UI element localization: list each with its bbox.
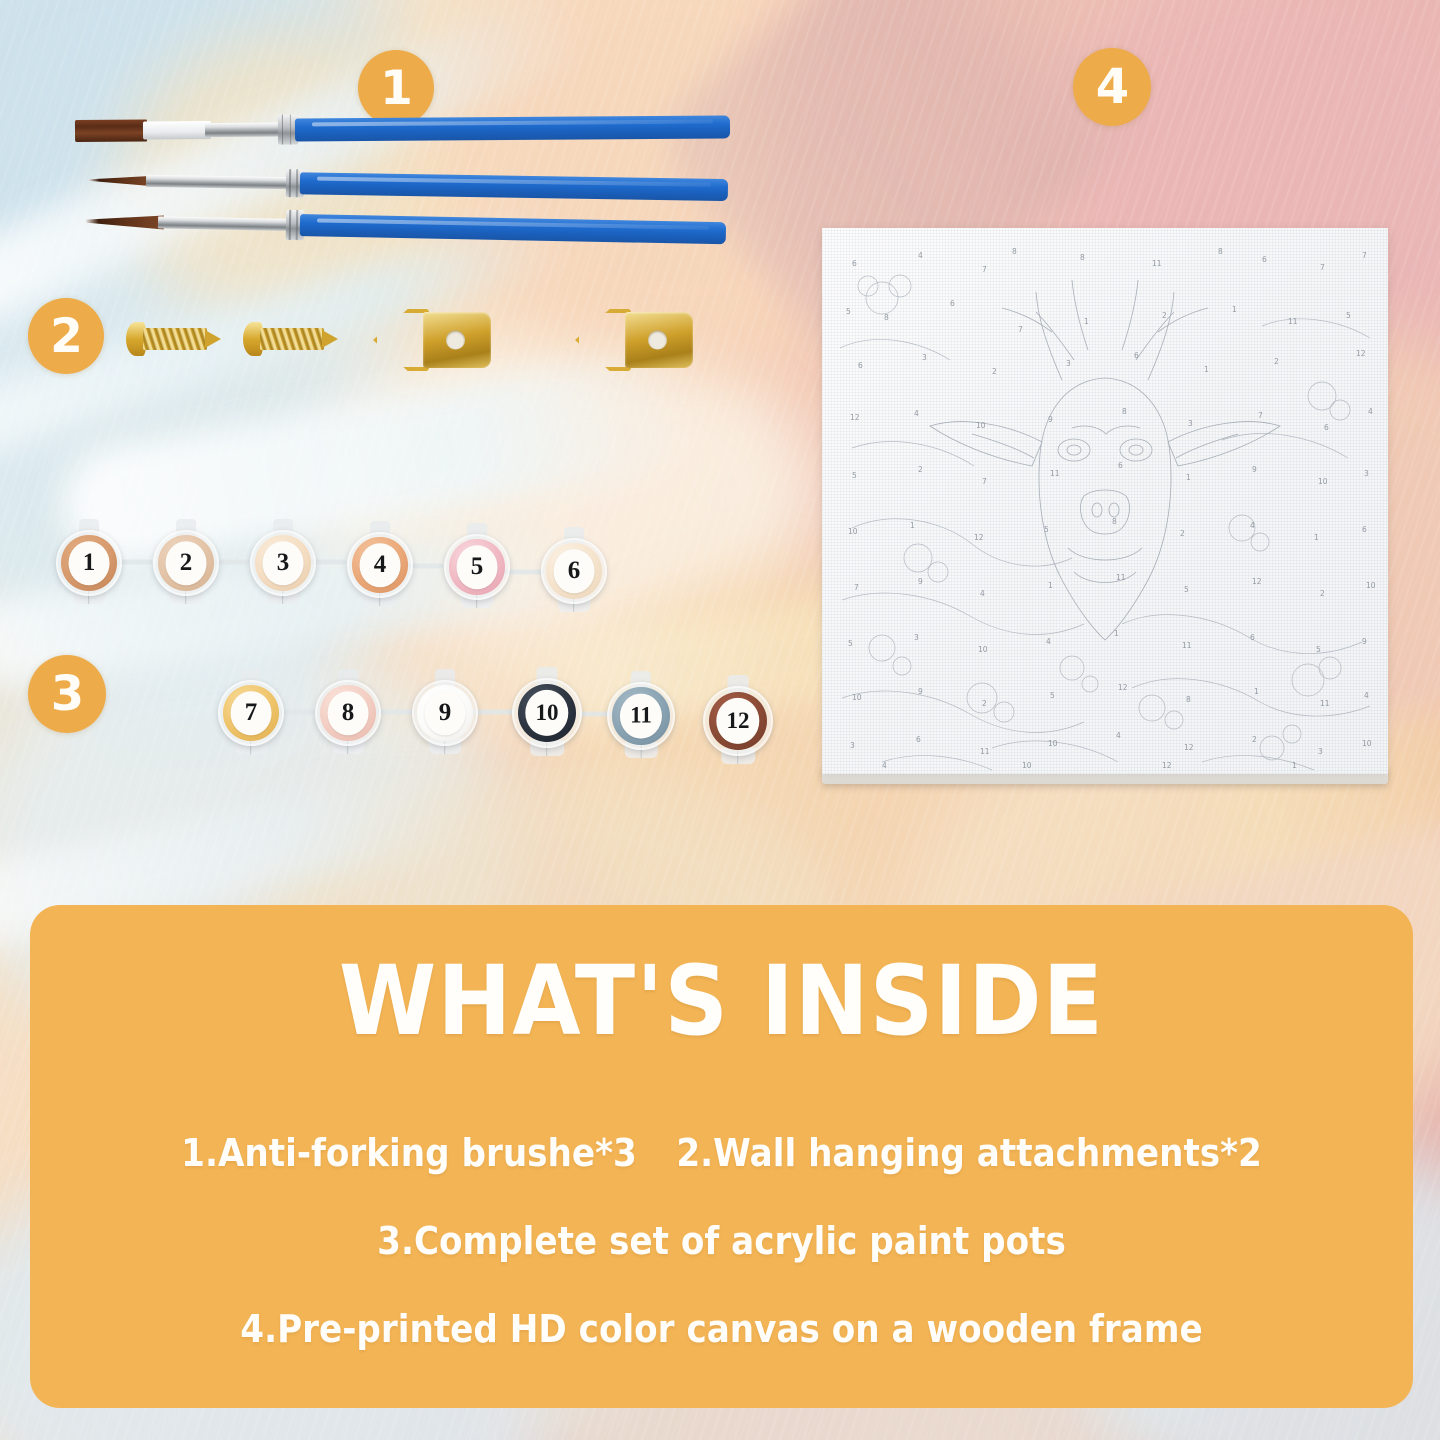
paint-pot-1: 1 bbox=[56, 530, 122, 596]
svg-text:4: 4 bbox=[1368, 407, 1373, 416]
svg-text:1: 1 bbox=[1254, 687, 1259, 696]
svg-text:2: 2 bbox=[992, 367, 997, 376]
svg-text:2: 2 bbox=[1274, 357, 1279, 366]
hanger-triangle bbox=[373, 309, 429, 371]
svg-text:4: 4 bbox=[1250, 521, 1255, 530]
svg-text:12: 12 bbox=[1184, 743, 1194, 752]
svg-text:6: 6 bbox=[858, 361, 863, 370]
svg-text:10: 10 bbox=[848, 527, 858, 536]
hanger-screw-hole bbox=[648, 331, 667, 350]
step-badge-4: 4 bbox=[1073, 48, 1151, 126]
pot-body: 2 bbox=[153, 530, 219, 596]
paint-pot-6: 6 bbox=[541, 538, 607, 604]
svg-text:7: 7 bbox=[982, 477, 987, 486]
step-badge-3: 3 bbox=[28, 655, 106, 733]
svg-text:5: 5 bbox=[848, 639, 853, 648]
paint-pot-12: 12 bbox=[703, 686, 773, 756]
contents-item-3: 3.Complete set of acrylic paint pots bbox=[377, 1219, 1066, 1263]
svg-text:6: 6 bbox=[1250, 633, 1255, 642]
svg-text:4: 4 bbox=[882, 761, 887, 770]
hanger-screw-hole bbox=[446, 331, 465, 350]
page-title: WHAT'S INSIDE bbox=[85, 953, 1357, 1049]
svg-text:8: 8 bbox=[1218, 247, 1223, 256]
svg-text:6: 6 bbox=[1118, 461, 1123, 470]
svg-text:5: 5 bbox=[1346, 311, 1351, 320]
pot-body: 10 bbox=[512, 678, 582, 748]
svg-text:7: 7 bbox=[854, 583, 859, 592]
svg-text:2: 2 bbox=[1162, 311, 1167, 320]
svg-text:1: 1 bbox=[1186, 473, 1191, 482]
contents-line-1: 1.Anti-forking brushe*3 2.Wall hanging a… bbox=[99, 1131, 1344, 1175]
pot-body: 8 bbox=[315, 680, 381, 746]
svg-text:9: 9 bbox=[918, 687, 923, 696]
paint-pot-2: 2 bbox=[153, 530, 219, 596]
svg-text:8: 8 bbox=[1080, 253, 1085, 262]
pot-body: 12 bbox=[703, 686, 773, 756]
paint-pot-9: 9 bbox=[412, 680, 478, 746]
svg-text:7: 7 bbox=[982, 265, 987, 274]
flat-brush-tip bbox=[75, 119, 147, 142]
svg-text:10: 10 bbox=[1366, 581, 1376, 590]
paint-pot-5: 5 bbox=[444, 534, 510, 600]
svg-text:11: 11 bbox=[1152, 259, 1162, 268]
svg-text:6: 6 bbox=[950, 299, 955, 308]
svg-text:4: 4 bbox=[1364, 691, 1369, 700]
paint-pot-3: 3 bbox=[250, 530, 316, 596]
round-brush-ferrule bbox=[158, 216, 296, 231]
step-badge-2: 2 bbox=[28, 298, 104, 374]
canvas-outline-artwork: 647 8811 867 758 671 2111 563 236 1212 1… bbox=[822, 228, 1388, 774]
svg-text:6: 6 bbox=[1362, 525, 1367, 534]
svg-text:12: 12 bbox=[1162, 761, 1172, 770]
svg-text:10: 10 bbox=[1318, 477, 1328, 486]
svg-text:4: 4 bbox=[1046, 637, 1051, 646]
svg-text:11: 11 bbox=[1320, 699, 1330, 708]
paint-pot-11: 11 bbox=[607, 682, 675, 750]
flat-brush bbox=[75, 113, 730, 144]
d-ring-hanger-2 bbox=[575, 300, 693, 380]
infographic-stage: 1 2 3 4 bbox=[0, 0, 1440, 1440]
svg-text:7: 7 bbox=[1362, 251, 1367, 260]
svg-text:11: 11 bbox=[1050, 469, 1060, 478]
round-brush-tip bbox=[86, 214, 164, 229]
svg-text:7: 7 bbox=[1018, 325, 1023, 334]
svg-text:1: 1 bbox=[1232, 305, 1237, 314]
pot-number-label: 1 bbox=[69, 541, 110, 585]
pot-number-label: 11 bbox=[620, 694, 662, 739]
pot-number-label: 5 bbox=[457, 545, 498, 589]
svg-text:2: 2 bbox=[1180, 529, 1185, 538]
svg-text:5: 5 bbox=[1050, 691, 1055, 700]
canvas-printed-face: 647 8811 867 758 671 2111 563 236 1212 1… bbox=[822, 228, 1388, 774]
contents-item-1: 1.Anti-forking brushe*3 bbox=[181, 1131, 637, 1175]
contents-line-2: 3.Complete set of acrylic paint pots bbox=[99, 1219, 1344, 1263]
pot-body: 3 bbox=[250, 530, 316, 596]
svg-text:3: 3 bbox=[1188, 419, 1193, 428]
step-badge-1-label: 1 bbox=[380, 61, 412, 116]
svg-text:1: 1 bbox=[1204, 365, 1209, 374]
pot-body: 5 bbox=[444, 534, 510, 600]
svg-text:6: 6 bbox=[916, 735, 921, 744]
svg-text:12: 12 bbox=[1118, 683, 1128, 692]
svg-text:10: 10 bbox=[852, 693, 862, 702]
svg-text:9: 9 bbox=[1252, 465, 1257, 474]
svg-text:2: 2 bbox=[1320, 589, 1325, 598]
gold-screw-1 bbox=[126, 312, 224, 366]
svg-text:7: 7 bbox=[1258, 411, 1263, 420]
svg-text:6: 6 bbox=[852, 259, 857, 268]
svg-text:1: 1 bbox=[1114, 629, 1119, 638]
svg-text:6: 6 bbox=[1324, 423, 1329, 432]
svg-text:3: 3 bbox=[1066, 359, 1071, 368]
svg-text:8: 8 bbox=[1112, 517, 1117, 526]
svg-text:9: 9 bbox=[918, 577, 923, 586]
pot-number-label: 3 bbox=[263, 541, 304, 585]
svg-text:4: 4 bbox=[1116, 731, 1121, 740]
svg-text:10: 10 bbox=[1362, 739, 1372, 748]
pot-number-label: 2 bbox=[166, 541, 207, 585]
fine-liner-brush-tip bbox=[88, 175, 150, 186]
svg-text:1: 1 bbox=[910, 521, 915, 530]
screw-shaft bbox=[260, 328, 324, 350]
pot-body: 9 bbox=[412, 680, 478, 746]
svg-text:3: 3 bbox=[922, 353, 927, 362]
svg-text:3: 3 bbox=[850, 741, 855, 750]
contents-item-2: 2.Wall hanging attachments*2 bbox=[676, 1131, 1261, 1175]
svg-text:5: 5 bbox=[852, 471, 857, 480]
svg-text:1: 1 bbox=[1048, 581, 1053, 590]
screw-shaft bbox=[143, 328, 207, 350]
paint-pot-8: 8 bbox=[315, 680, 381, 746]
paint-pot-4: 4 bbox=[347, 532, 413, 598]
paint-pot-10: 10 bbox=[512, 678, 582, 748]
pot-body: 4 bbox=[347, 532, 413, 598]
svg-text:2: 2 bbox=[918, 465, 923, 474]
svg-text:12: 12 bbox=[974, 533, 984, 542]
svg-text:5: 5 bbox=[846, 307, 851, 316]
svg-text:1: 1 bbox=[1084, 317, 1089, 326]
svg-text:10: 10 bbox=[1048, 739, 1058, 748]
flat-brush-ferrule bbox=[205, 123, 285, 138]
pot-body: 1 bbox=[56, 530, 122, 596]
svg-text:10: 10 bbox=[976, 421, 986, 430]
svg-text:8: 8 bbox=[1186, 695, 1191, 704]
svg-text:11: 11 bbox=[1182, 641, 1192, 650]
svg-text:3: 3 bbox=[1364, 469, 1369, 478]
svg-text:11: 11 bbox=[1116, 573, 1126, 582]
pot-number-label: 7 bbox=[231, 691, 272, 735]
svg-text:9: 9 bbox=[1362, 637, 1367, 646]
svg-text:2: 2 bbox=[1252, 735, 1257, 744]
svg-text:4: 4 bbox=[914, 409, 919, 418]
pot-number-label: 8 bbox=[328, 691, 369, 735]
step-badge-2-label: 2 bbox=[50, 309, 82, 364]
svg-text:12: 12 bbox=[850, 413, 860, 422]
svg-text:5: 5 bbox=[1044, 525, 1049, 534]
svg-text:2: 2 bbox=[982, 699, 987, 708]
hanger-triangle bbox=[575, 309, 631, 371]
svg-text:7: 7 bbox=[1320, 263, 1325, 272]
svg-text:11: 11 bbox=[980, 747, 990, 756]
svg-text:5: 5 bbox=[1316, 645, 1321, 654]
d-ring-hanger-1 bbox=[373, 300, 491, 380]
svg-text:1: 1 bbox=[1314, 533, 1319, 542]
screw-tip bbox=[322, 330, 338, 348]
svg-text:6: 6 bbox=[1134, 351, 1139, 360]
svg-text:3: 3 bbox=[1318, 747, 1323, 756]
contents-item-4: 4.Pre-printed HD color canvas on a woode… bbox=[240, 1307, 1202, 1351]
svg-text:8: 8 bbox=[884, 313, 889, 322]
svg-text:10: 10 bbox=[1022, 761, 1032, 770]
pot-number-label: 4 bbox=[360, 543, 401, 587]
svg-text:10: 10 bbox=[978, 645, 988, 654]
svg-text:8: 8 bbox=[1122, 407, 1127, 416]
step-badge-3-label: 3 bbox=[51, 666, 83, 722]
svg-text:12: 12 bbox=[1252, 577, 1262, 586]
svg-text:5: 5 bbox=[1184, 585, 1189, 594]
svg-text:4: 4 bbox=[918, 251, 923, 260]
svg-text:12: 12 bbox=[1356, 349, 1366, 358]
pot-number-label: 6 bbox=[554, 549, 595, 593]
svg-text:8: 8 bbox=[1012, 247, 1017, 256]
step-badge-4-label: 4 bbox=[1096, 59, 1128, 115]
svg-text:9: 9 bbox=[1048, 415, 1053, 424]
svg-text:1: 1 bbox=[1292, 761, 1297, 770]
svg-text:11: 11 bbox=[1288, 317, 1298, 326]
flat-brush-handle bbox=[295, 115, 730, 141]
whats-inside-panel: WHAT'S INSIDE 1.Anti-forking brushe*3 2.… bbox=[30, 905, 1413, 1408]
svg-text:3: 3 bbox=[914, 633, 919, 642]
pot-body: 11 bbox=[607, 682, 675, 750]
paint-pot-7: 7 bbox=[218, 680, 284, 746]
svg-text:6: 6 bbox=[1262, 255, 1267, 264]
pot-body: 7 bbox=[218, 680, 284, 746]
fine-liner-brush-ferrule bbox=[146, 175, 296, 189]
pot-body: 6 bbox=[541, 538, 607, 604]
flat-brush-ferrule-white bbox=[143, 121, 211, 139]
pot-number-label: 9 bbox=[425, 691, 466, 735]
contents-line-3: 4.Pre-printed HD color canvas on a woode… bbox=[99, 1307, 1344, 1351]
svg-text:4: 4 bbox=[980, 589, 985, 598]
gold-screw-2 bbox=[243, 312, 341, 366]
screw-tip bbox=[205, 330, 221, 348]
paint-by-numbers-canvas: 647 8811 867 758 671 2111 563 236 1212 1… bbox=[822, 228, 1388, 784]
